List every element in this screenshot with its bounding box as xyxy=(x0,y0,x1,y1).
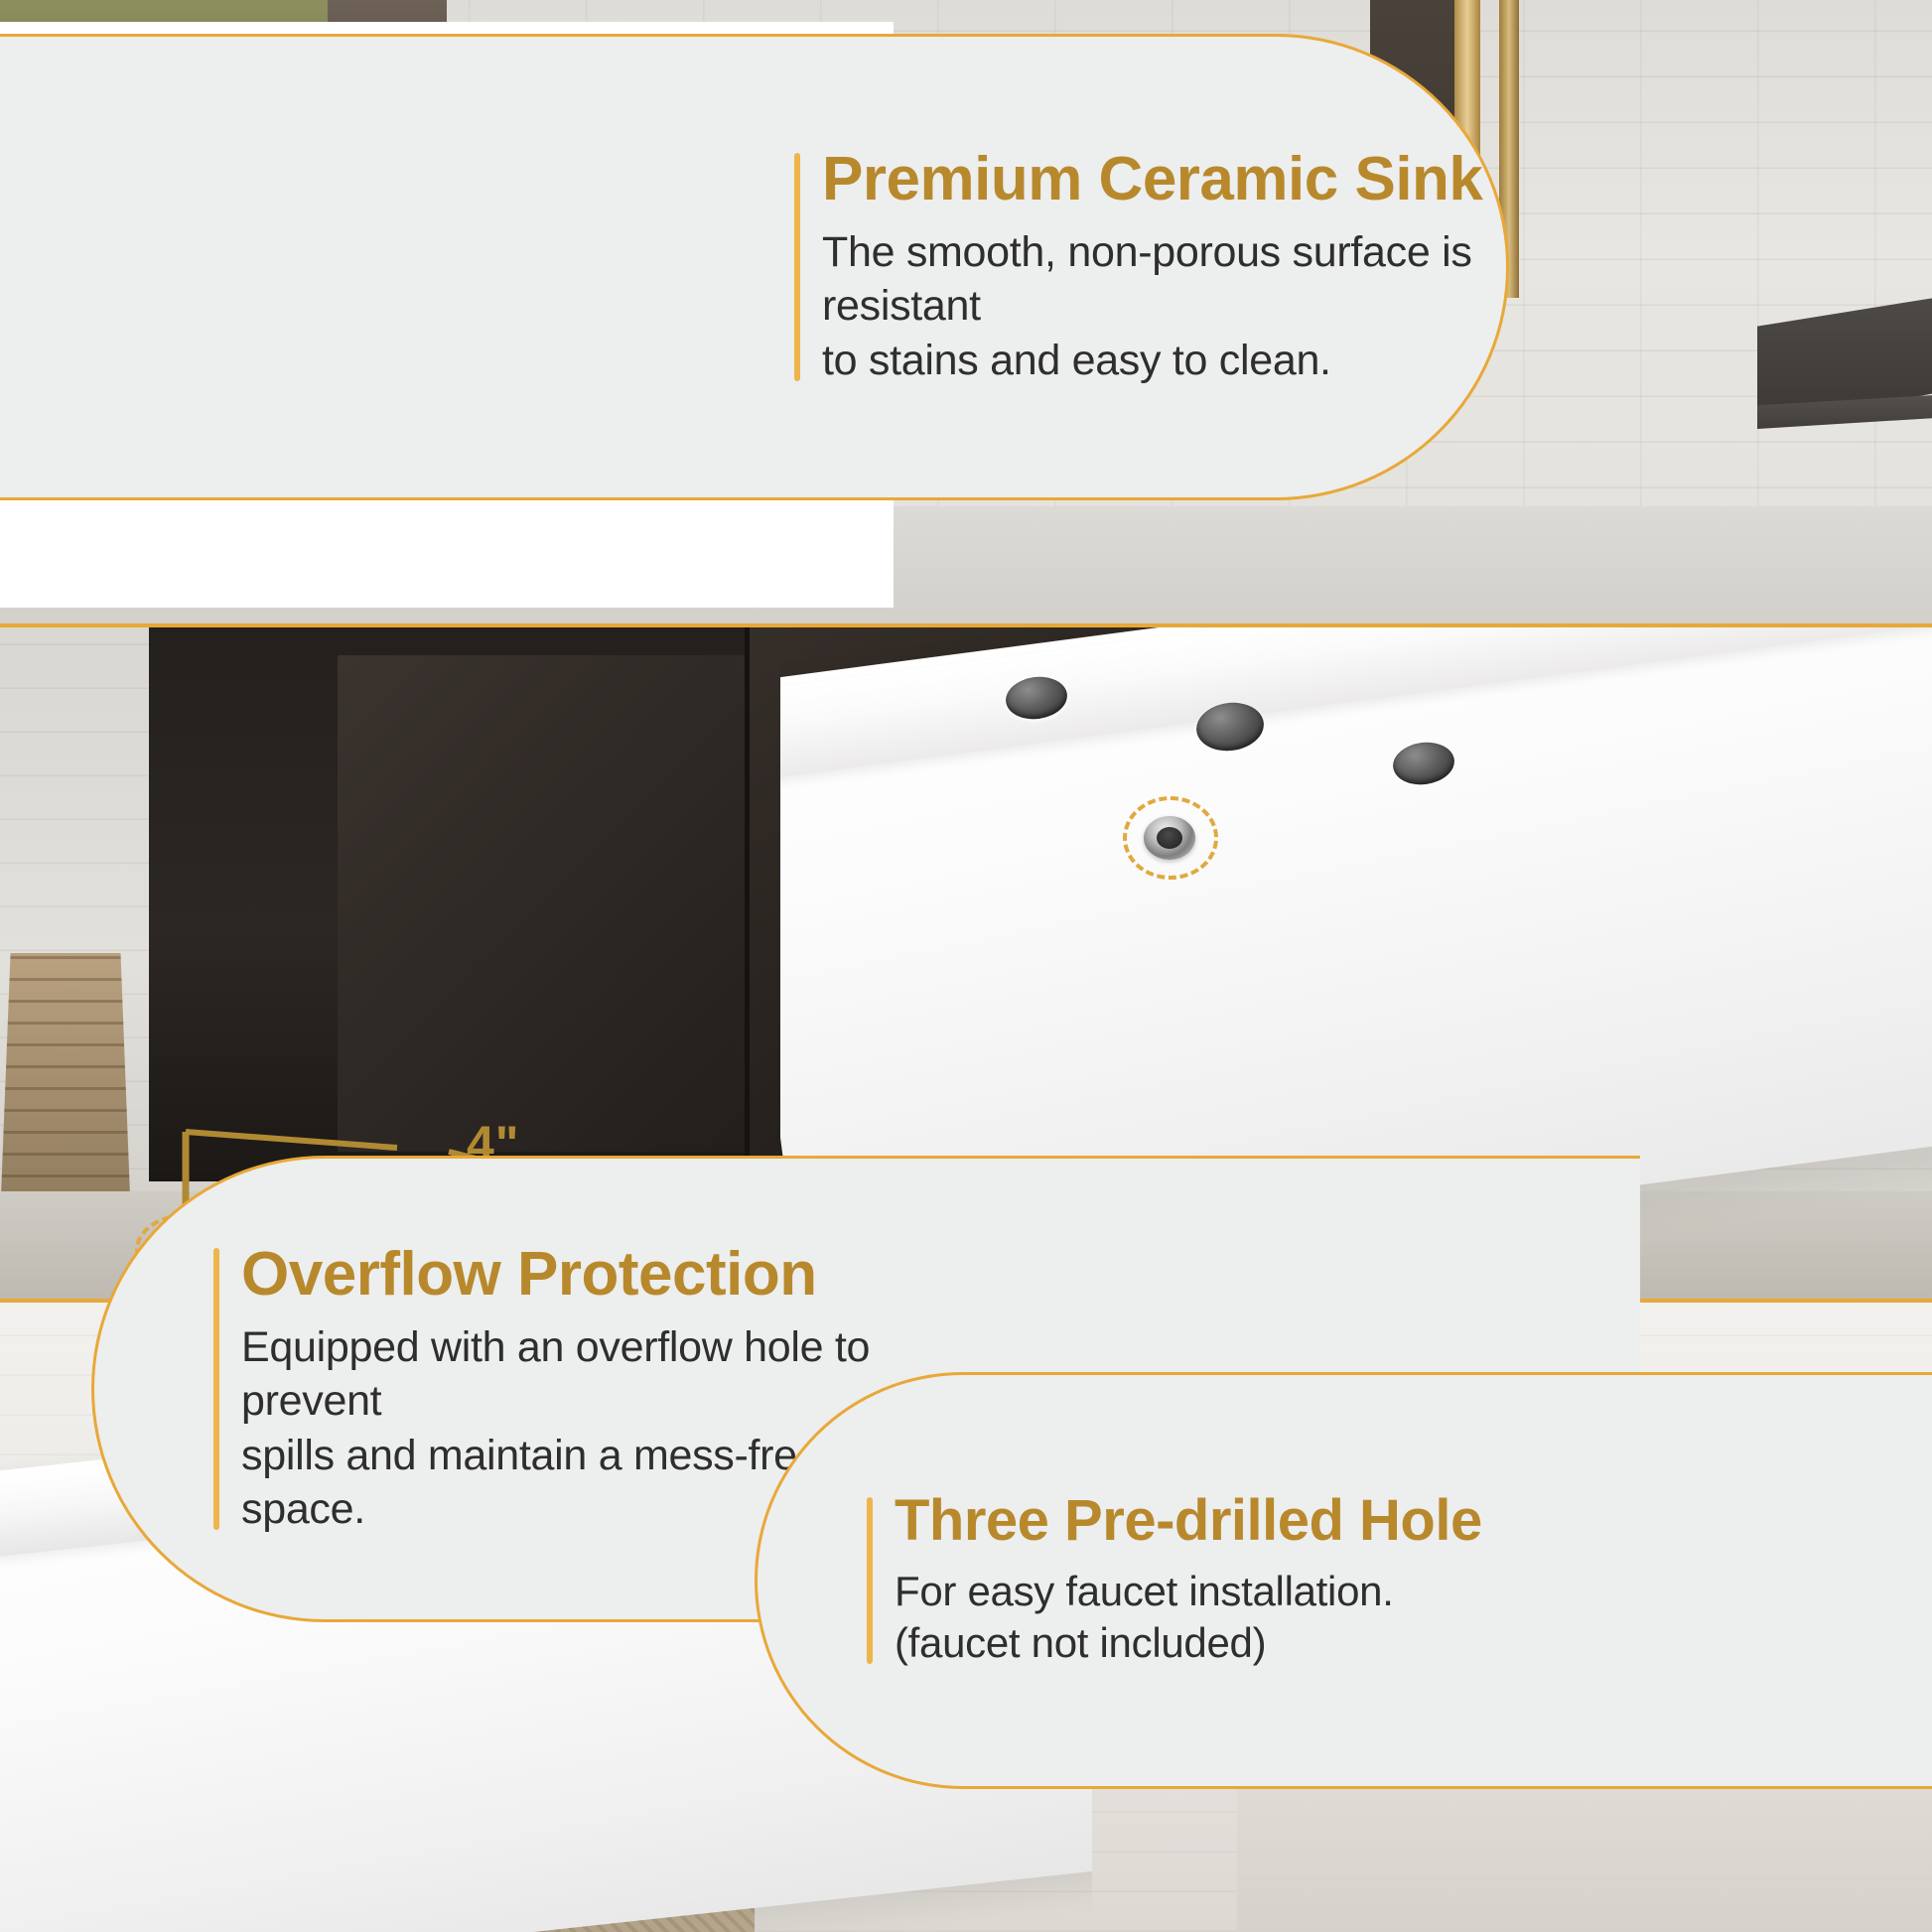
accent-bar xyxy=(213,1248,219,1530)
dimension-rule-left xyxy=(186,1132,397,1148)
accent-bar xyxy=(867,1497,873,1665)
feature-panel-three-pre-drilled-hole: Three Pre-drilled Hole For easy faucet i… xyxy=(755,1372,1932,1789)
panel-title: Three Pre-drilled Hole xyxy=(895,1491,1837,1552)
panel-body-line: (faucet not included) xyxy=(895,1617,1837,1670)
infographic-canvas: Premium Ceramic Sink The smooth, non-por… xyxy=(0,0,1932,1932)
panel-body-line: For easy faucet installation. xyxy=(895,1566,1837,1618)
band-separator-1 xyxy=(0,623,1932,627)
panel-body: For easy faucet installation. (faucet no… xyxy=(895,1566,1837,1671)
panel-title: Overflow Protection xyxy=(241,1242,945,1307)
